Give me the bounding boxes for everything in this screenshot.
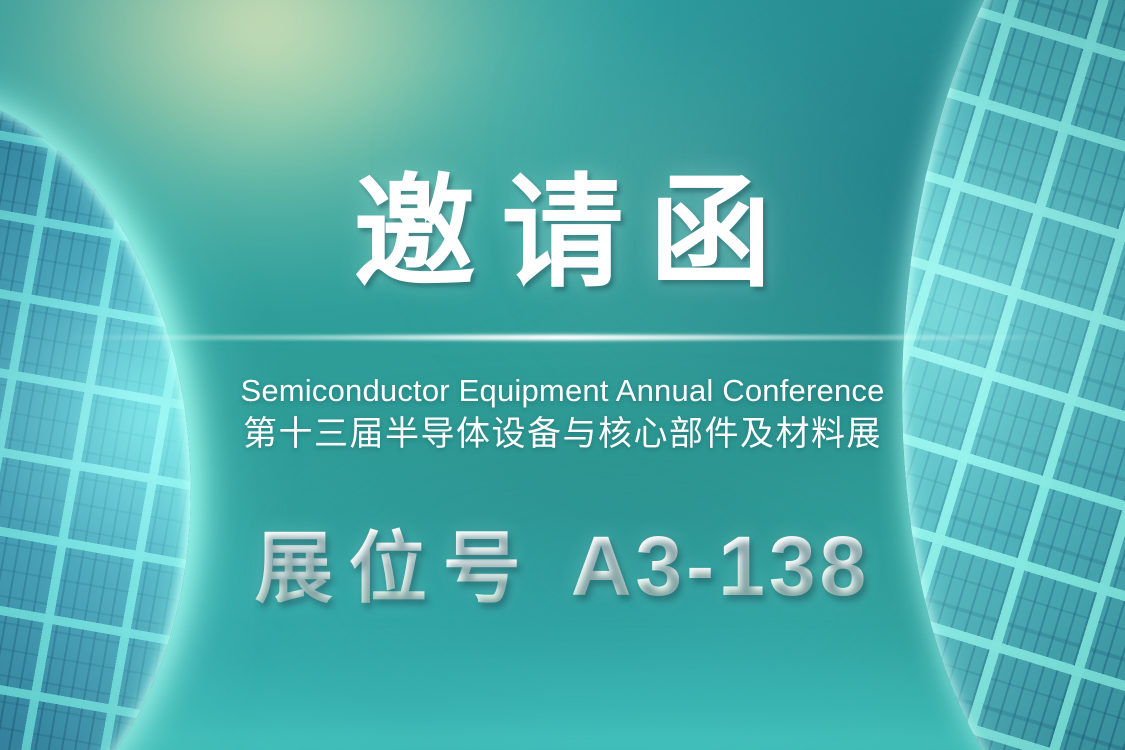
invitation-banner: 邀请函 Semiconductor Equipment Annual Confe…: [0, 0, 1125, 750]
booth-number-value: A3-138: [571, 519, 871, 613]
booth-number-label: 展位号: [255, 524, 537, 612]
subtitle-block: Semiconductor Equipment Annual Conferenc…: [0, 373, 1125, 454]
page-title: 邀请函: [0, 172, 1125, 294]
light-streak-divider-core: [330, 336, 795, 339]
subtitle-chinese: 第十三届半导体设备与核心部件及材料展: [0, 414, 1125, 454]
subtitle-english: Semiconductor Equipment Annual Conferenc…: [0, 373, 1125, 410]
booth-number-line: 展位号A3-138: [0, 522, 1125, 610]
banner-content: 邀请函 Semiconductor Equipment Annual Confe…: [0, 0, 1125, 750]
